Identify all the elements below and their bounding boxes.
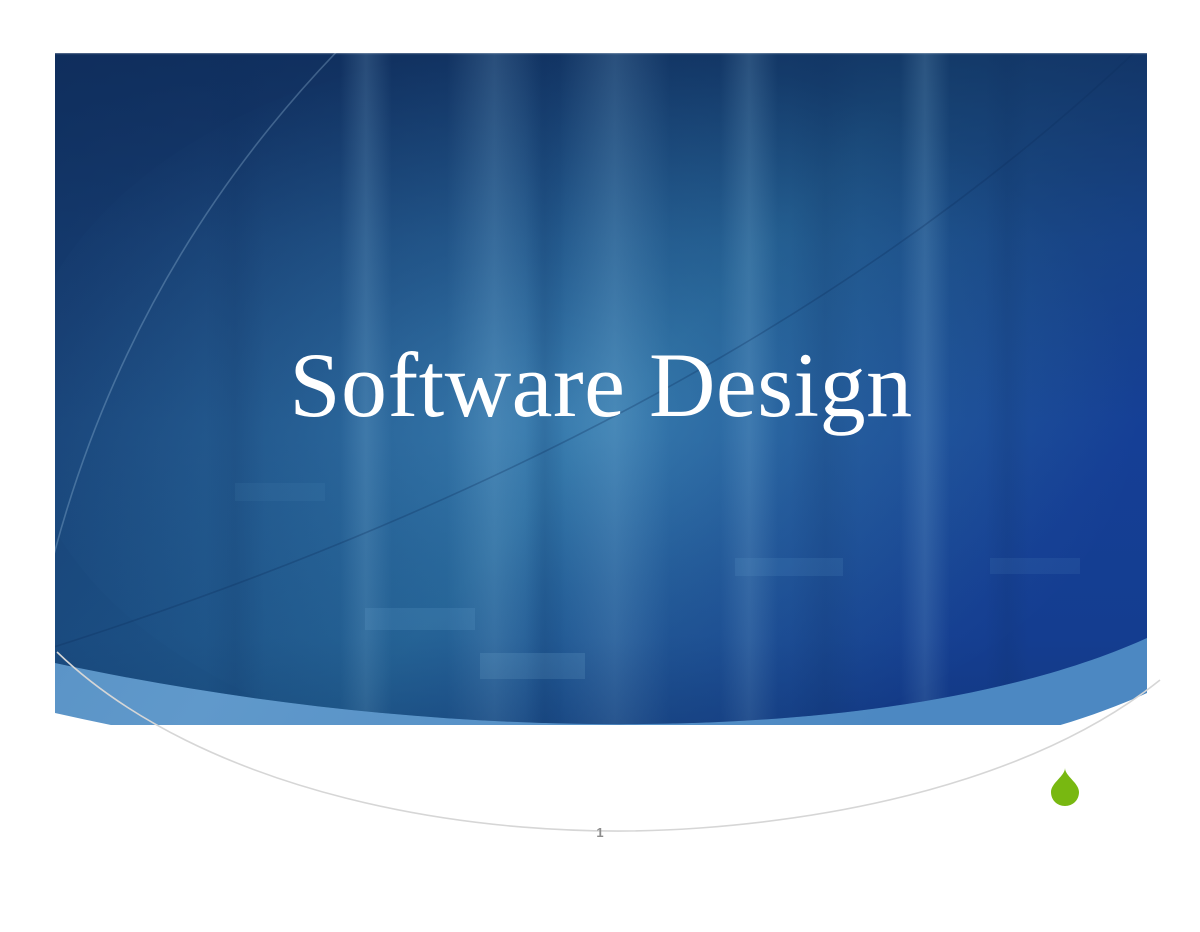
panel-top-highlight <box>55 53 1147 54</box>
droplet-shape <box>1051 768 1079 806</box>
droplet-svg <box>1048 767 1082 807</box>
slide-number: 1 <box>540 825 660 840</box>
slide-page: Software Design 1 <box>0 0 1200 927</box>
green-droplet-icon <box>1048 767 1082 807</box>
slide-title: Software Design <box>55 330 1147 440</box>
